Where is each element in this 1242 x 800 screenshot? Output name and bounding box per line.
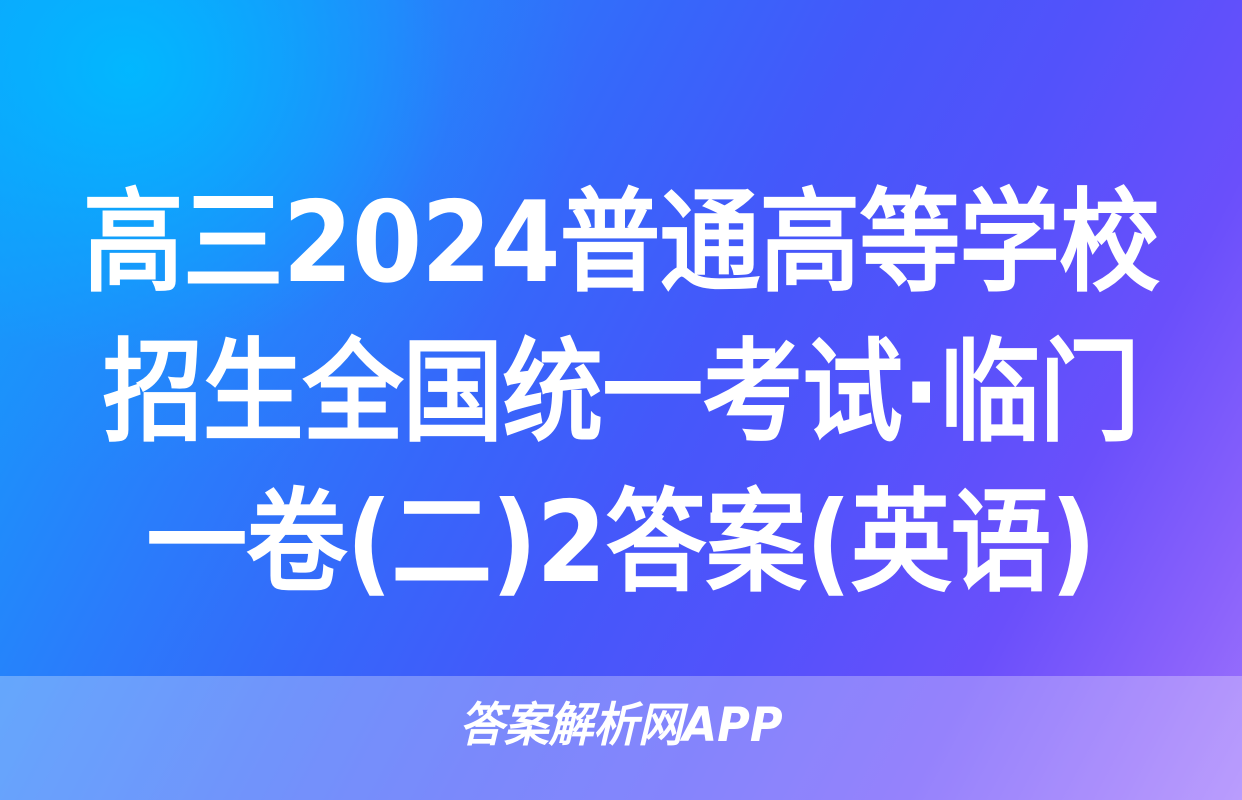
background-gradient [0,0,1242,800]
poster-canvas: 高三2024普通高等学校 招生全国统一考试·临门 一卷(二)2答案(英语) 答案… [0,0,1242,800]
watermark-brand: 答案解析网APP [31,697,1211,755]
